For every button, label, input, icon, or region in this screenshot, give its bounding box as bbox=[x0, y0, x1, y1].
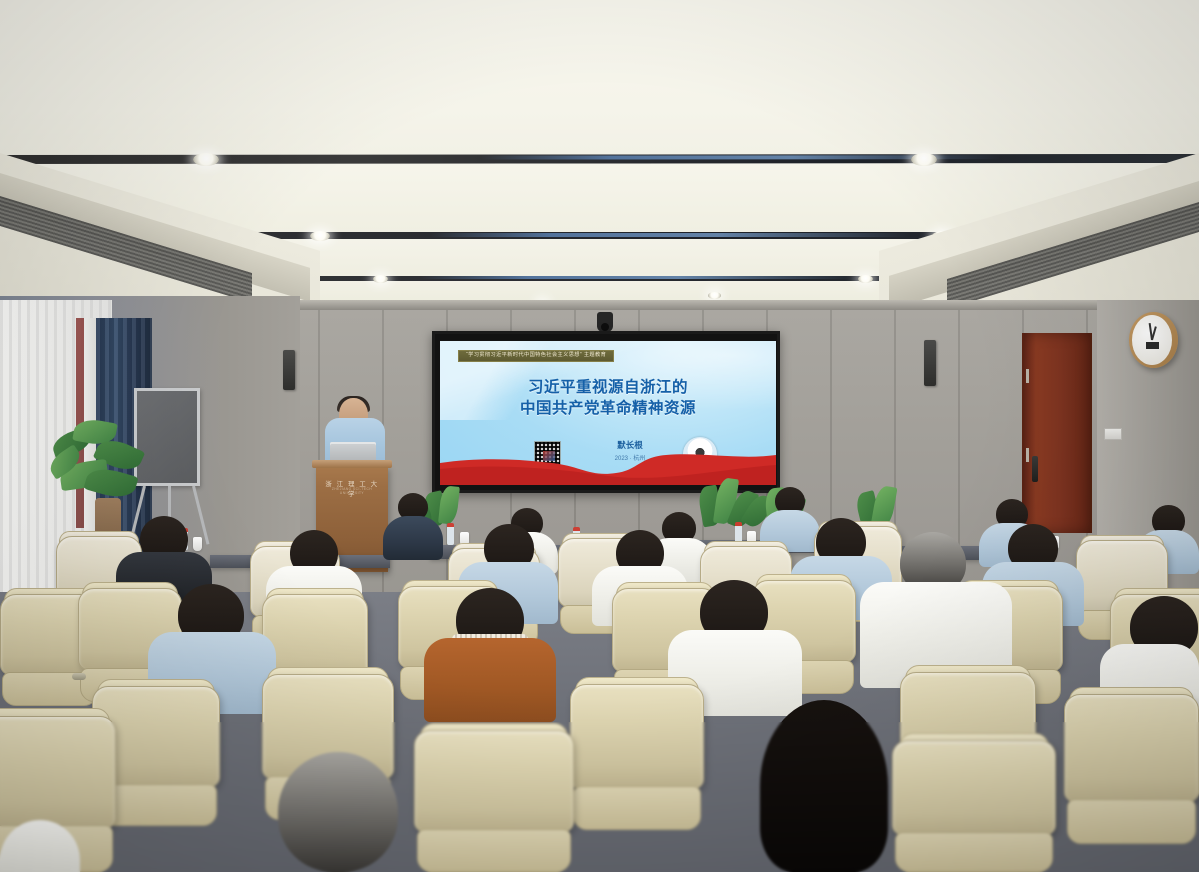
rail-blue-sheen-2 bbox=[430, 233, 910, 237]
chair-back bbox=[892, 740, 1056, 835]
chair-back bbox=[262, 594, 368, 678]
door-handle[interactable] bbox=[1032, 456, 1038, 482]
slide-title: 习近平重视源自浙江的 中国共产党革命精神资源 bbox=[440, 377, 776, 420]
chair-back bbox=[414, 730, 574, 832]
paper-cup bbox=[193, 537, 202, 551]
slide-title-line-1: 习近平重视源自浙江的 bbox=[440, 377, 776, 398]
room-door[interactable] bbox=[1022, 333, 1092, 533]
door-hinge bbox=[1026, 448, 1029, 462]
chair bbox=[414, 730, 574, 872]
downlight-icon bbox=[193, 153, 219, 166]
downlight-icon bbox=[858, 275, 873, 283]
rail-blue-sheen-3 bbox=[420, 276, 850, 279]
easel-whiteboard bbox=[134, 388, 200, 486]
chair-back bbox=[1064, 694, 1199, 802]
chair-back bbox=[0, 716, 116, 828]
downlight-icon bbox=[373, 275, 388, 283]
chair bbox=[570, 684, 704, 830]
chair-seat bbox=[417, 829, 571, 872]
lectern-institution-subtitle: ZHEJIANG SCI-TECH UNIVERSITY bbox=[322, 487, 382, 495]
chair-seat bbox=[895, 832, 1052, 872]
downlight-icon bbox=[911, 153, 937, 166]
presentation-slide: “学习贯彻习近平新时代中国特色社会主义思想” 主题教育 习近平重视源自浙江的 中… bbox=[440, 341, 776, 485]
person-head bbox=[278, 752, 398, 872]
clock-face bbox=[1132, 315, 1172, 365]
conference-hall-photo: “学习贯彻习近平新时代中国特色社会主义思想” 主题教育 习近平重视源自浙江的 中… bbox=[0, 0, 1199, 872]
clock-date-window bbox=[1146, 342, 1159, 349]
wall-speaker-left bbox=[283, 350, 295, 390]
person-head bbox=[760, 700, 888, 872]
slide-banner-text: “学习贯彻习近平新时代中国特色社会主义思想” 主题教育 bbox=[458, 350, 614, 362]
wall-speaker-right bbox=[924, 340, 936, 386]
chair-seat bbox=[573, 786, 702, 830]
downlight-icon bbox=[310, 231, 330, 241]
slide-title-line-2: 中国共产党革命精神资源 bbox=[440, 398, 776, 419]
chair bbox=[892, 740, 1056, 872]
downlight-icon bbox=[708, 292, 721, 299]
door-hinge bbox=[1026, 369, 1029, 383]
projection-screen: “学习贯彻习近平新时代中国特色社会主义思想” 主题教育 习近平重视源自浙江的 中… bbox=[432, 331, 780, 493]
person-torso bbox=[383, 516, 443, 560]
ceiling-rail-1 bbox=[0, 154, 1199, 164]
chair-back bbox=[570, 684, 704, 789]
chair-seat bbox=[1067, 799, 1197, 844]
wall-clock bbox=[1129, 312, 1178, 368]
lectern-top bbox=[312, 460, 392, 468]
chair bbox=[1064, 694, 1199, 844]
chair-armrest bbox=[72, 673, 86, 680]
ceiling-video-camera-icon bbox=[597, 312, 613, 332]
ceiling-panel-1 bbox=[0, 0, 1199, 155]
water-bottle bbox=[447, 523, 454, 545]
light-switch-panel[interactable] bbox=[1104, 428, 1122, 440]
person-torso bbox=[424, 638, 556, 722]
